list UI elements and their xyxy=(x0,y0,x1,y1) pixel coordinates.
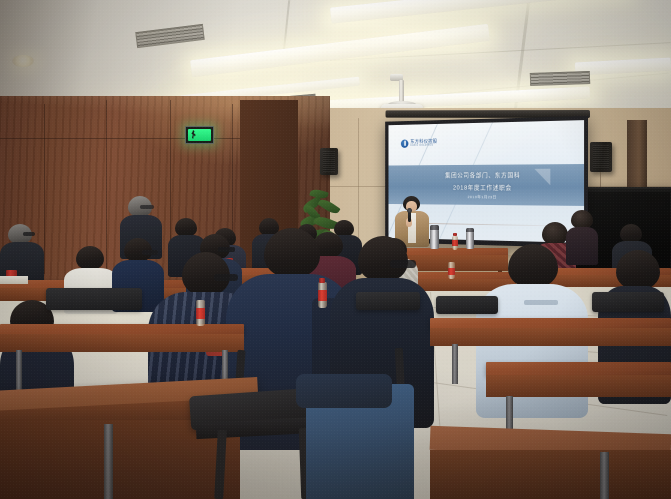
tumbler-cap xyxy=(466,228,474,232)
bottle-label xyxy=(452,240,458,246)
wood-seam xyxy=(44,104,45,274)
logo-text-en: CASIC HOLDINGS xyxy=(410,144,437,147)
company-logo: 东方科仪控股 CASIC HOLDINGS xyxy=(401,139,437,148)
floor-shadows xyxy=(0,286,671,499)
microphone-head xyxy=(407,208,412,213)
eyeglasses xyxy=(390,260,416,268)
wall-light-glow xyxy=(120,96,330,166)
conference-room-photo: 东方科仪控股 CASIC HOLDINGS 集团公司各部门、东方国科 2018年… xyxy=(0,0,671,499)
thermos-cap xyxy=(430,225,439,230)
slide-title-line1: 集团公司各部门、东方国科 xyxy=(388,170,584,179)
bottle-cap xyxy=(453,233,457,236)
eyeglasses xyxy=(23,232,35,236)
logo-mark-icon xyxy=(401,139,409,147)
slide-title-line2: 2018年度工作述职会 xyxy=(388,183,584,192)
emergency-exit-sign xyxy=(185,126,214,144)
notebook xyxy=(0,276,28,284)
bottle-cap xyxy=(319,278,325,283)
wall-speaker xyxy=(320,148,338,175)
eyeglasses xyxy=(140,205,154,209)
bottle-label xyxy=(448,268,455,275)
wall-speaker xyxy=(590,142,612,172)
steel-tumbler xyxy=(466,231,474,249)
